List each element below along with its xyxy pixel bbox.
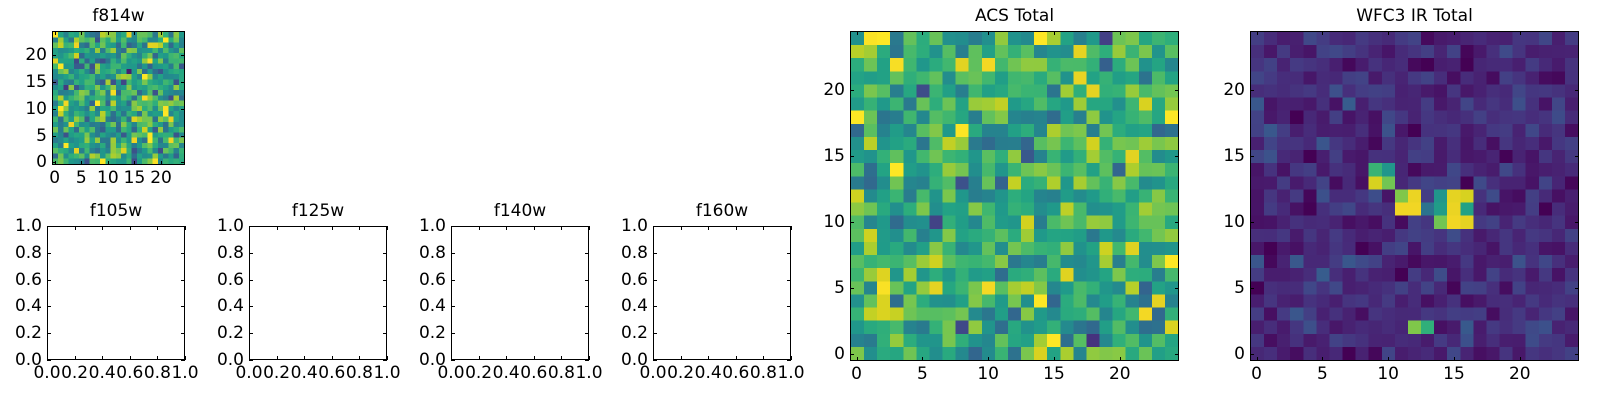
ytick-mark [1575, 288, 1579, 289]
ytick-mark [1250, 222, 1254, 223]
xtick-mark [1454, 31, 1455, 35]
heatmap-wfc3-ir-total [1251, 32, 1578, 360]
ytick-label: 20 [1223, 81, 1245, 99]
matplotlib-figure: f814w 0510152005101520 f105w 0.00.20.40.… [0, 0, 1600, 400]
xtick-label: 0 [1251, 365, 1262, 383]
xtick-mark [1322, 31, 1323, 35]
ytick-mark [1250, 288, 1254, 289]
xtick-label: 15 [1443, 365, 1465, 383]
xtick-mark [1257, 357, 1258, 361]
axes-wfc3-ir-total[interactable] [1250, 31, 1579, 361]
panel-wfc3-ir-total: WFC3 IR Total 0510152005101520 [0, 0, 1600, 400]
ytick-label: 10 [1223, 213, 1245, 231]
ytick-mark [1575, 90, 1579, 91]
ytick-mark [1250, 354, 1254, 355]
xtick-label: 20 [1509, 365, 1531, 383]
panel-title-wfc3-ir-total: WFC3 IR Total [1250, 6, 1579, 26]
xtick-label: 5 [1317, 365, 1328, 383]
ytick-mark [1575, 156, 1579, 157]
ytick-mark [1250, 90, 1254, 91]
ytick-mark [1575, 354, 1579, 355]
xtick-mark [1388, 357, 1389, 361]
xtick-mark [1257, 31, 1258, 35]
xtick-mark [1520, 357, 1521, 361]
ytick-label: 0 [1234, 345, 1245, 363]
xtick-mark [1454, 357, 1455, 361]
xtick-mark [1388, 31, 1389, 35]
ytick-label: 5 [1234, 279, 1245, 297]
ytick-mark [1250, 156, 1254, 157]
ytick-label: 15 [1223, 147, 1245, 165]
xtick-mark [1322, 357, 1323, 361]
xtick-mark [1520, 31, 1521, 35]
ytick-mark [1575, 222, 1579, 223]
xtick-label: 10 [1377, 365, 1399, 383]
